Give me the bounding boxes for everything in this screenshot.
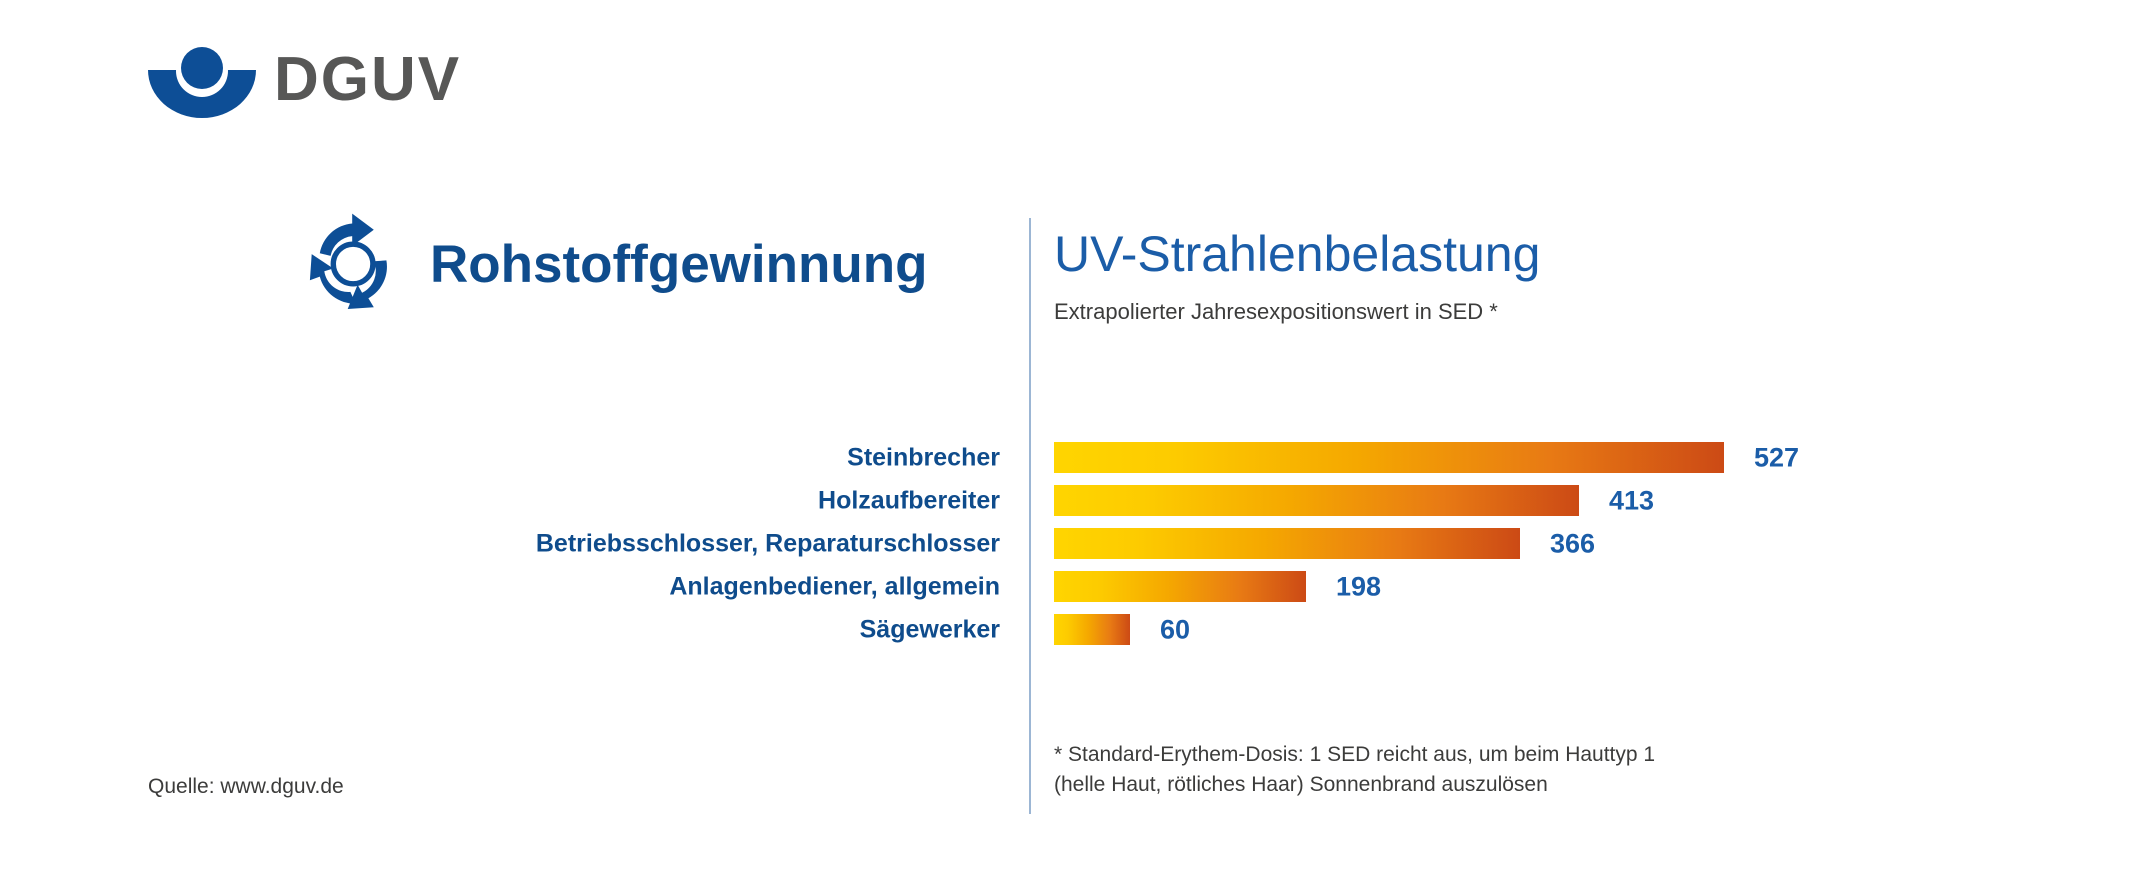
bar-track <box>1054 442 1724 473</box>
bar-value-label: 413 <box>1609 485 1654 516</box>
chart-subtitle: Extrapolierter Jahresexpositionswert in … <box>1054 299 2054 325</box>
bar-row: Anlagenbediener, allgemein198 <box>0 571 2135 602</box>
bar-value-label: 198 <box>1336 571 1381 602</box>
chart-header: UV-Strahlenbelastung Extrapolierter Jahr… <box>1054 228 2054 325</box>
bar-row: Sägewerker60 <box>0 614 2135 645</box>
bar-chart: Steinbrecher527Holzaufbereiter413Betrieb… <box>0 442 2135 672</box>
bar-row: Holzaufbereiter413 <box>0 485 2135 516</box>
dguv-logo: DGUV <box>148 42 461 118</box>
bar-value-label: 527 <box>1754 442 1799 473</box>
branch-title: Rohstoffgewinnung <box>430 238 928 291</box>
bar-track <box>1054 485 1579 516</box>
page-title: UV-Strahlenbelastung <box>1054 228 2054 281</box>
bar-track <box>1054 528 1520 559</box>
recycling-loop-icon <box>300 210 408 318</box>
bar-category-label: Anlagenbediener, allgemein <box>669 572 1000 601</box>
bar-fill <box>1054 614 1130 645</box>
dguv-bowl-circle-icon <box>148 42 256 118</box>
bar-track <box>1054 571 1306 602</box>
infographic-page: DGUV Rohstoffgewinnung UV-Strahlenbelast… <box>0 0 2135 885</box>
branch-heading: Rohstoffgewinnung <box>300 210 928 318</box>
footnote-line-1: * Standard-Erythem-Dosis: 1 SED reicht a… <box>1054 740 1655 770</box>
bar-category-label: Holzaufbereiter <box>818 486 1000 515</box>
footnote: * Standard-Erythem-Dosis: 1 SED reicht a… <box>1054 740 1655 801</box>
bar-fill <box>1054 442 1724 473</box>
bar-value-label: 60 <box>1160 614 1190 645</box>
bar-category-label: Sägewerker <box>860 615 1000 644</box>
bar-row: Betriebsschlosser, Reparaturschlosser366 <box>0 528 2135 559</box>
bar-category-label: Steinbrecher <box>847 443 1000 472</box>
bar-fill <box>1054 528 1520 559</box>
bar-row: Steinbrecher527 <box>0 442 2135 473</box>
bar-track <box>1054 614 1130 645</box>
bar-fill <box>1054 571 1306 602</box>
dguv-wordmark: DGUV <box>274 49 461 111</box>
source-note: Quelle: www.dguv.de <box>148 775 344 799</box>
bar-fill <box>1054 485 1579 516</box>
footnote-line-2: (helle Haut, rötliches Haar) Sonnenbrand… <box>1054 770 1655 800</box>
bar-category-label: Betriebsschlosser, Reparaturschlosser <box>536 529 1000 558</box>
bar-value-label: 366 <box>1550 528 1595 559</box>
